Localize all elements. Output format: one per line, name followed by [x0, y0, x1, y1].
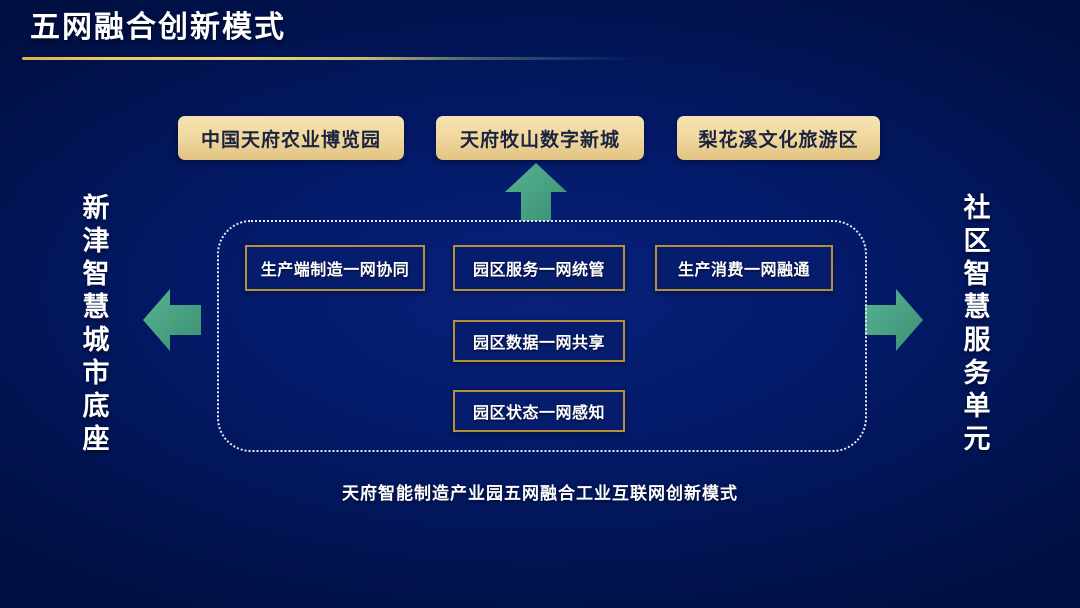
- diagram-caption: 天府智能制造产业园五网融合工业互联网创新模式: [0, 479, 1080, 504]
- top-box-agriculture-expo[interactable]: 中国天府农业博览园: [178, 116, 404, 160]
- arrow-left-icon: [143, 283, 201, 357]
- left-vertical-label: 新津智慧城市底座: [74, 192, 118, 456]
- top-box-digital-city[interactable]: 天府牧山数字新城: [436, 116, 644, 160]
- arrow-up-icon: [503, 163, 569, 221]
- title-block: 五网融合创新模式: [0, 0, 700, 70]
- right-vertical-label: 社区智慧服务单元: [955, 192, 999, 456]
- arrow-right-icon: [865, 283, 923, 357]
- page-title: 五网融合创新模式: [30, 8, 286, 48]
- inner-box-manufacturing-collaboration[interactable]: 生产端制造一网协同: [245, 245, 425, 291]
- title-underline-divider: [22, 57, 637, 60]
- inner-box-park-state-sensing[interactable]: 园区状态一网感知: [453, 390, 625, 432]
- top-box-cultural-tourism[interactable]: 梨花溪文化旅游区: [677, 116, 880, 160]
- inner-box-park-data-sharing[interactable]: 园区数据一网共享: [453, 320, 625, 362]
- inner-box-production-consumption[interactable]: 生产消费一网融通: [655, 245, 833, 291]
- inner-box-park-service-management[interactable]: 园区服务一网统管: [453, 245, 625, 291]
- slide-canvas: 五网融合创新模式 新津智慧城市底座 社区智慧服务单元: [0, 0, 1080, 608]
